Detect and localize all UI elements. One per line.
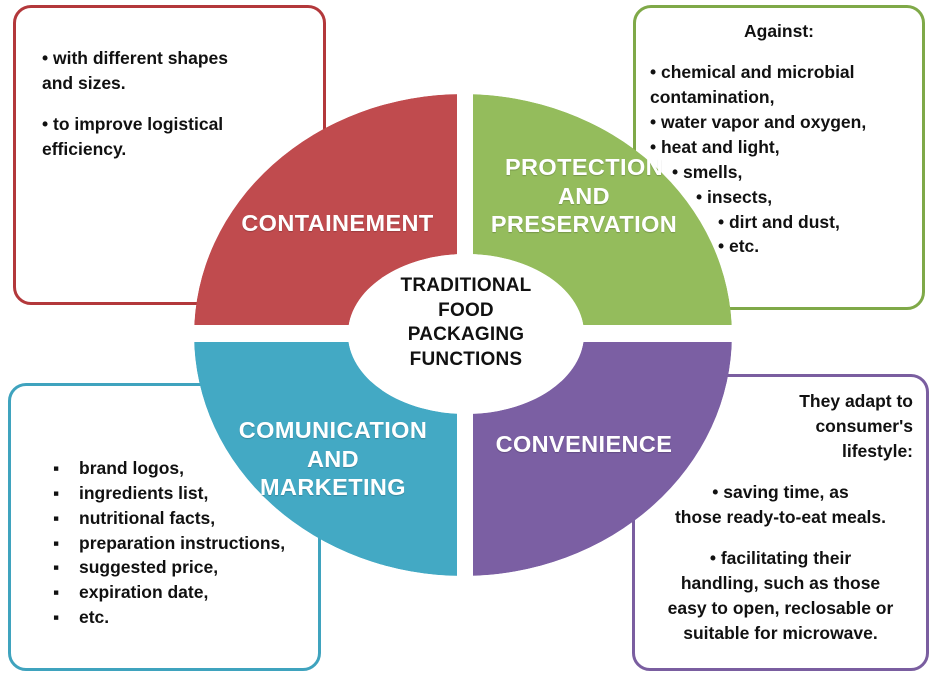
containment-item-0: • with different shapes — [42, 46, 297, 71]
convenience-group-two-0: • facilitating their — [648, 546, 913, 571]
communication-item-label: preparation instructions, — [79, 533, 285, 553]
segment-label-line: PRESERVATION — [470, 210, 698, 239]
diagram-canvas: • with different shapes and sizes. • to … — [0, 0, 937, 682]
segment-label-containment[interactable]: CONTAINEMENT — [205, 209, 470, 238]
protection-item-0: • chemical and microbial — [650, 60, 908, 85]
square-bullet-icon: ▪ — [53, 605, 79, 630]
communication-item-label: expiration date, — [79, 582, 208, 602]
list-item: ▪expiration date, — [53, 580, 318, 605]
segment-label-communication[interactable]: COMUNICATION AND MARKETING — [200, 416, 466, 502]
convenience-group-one-1: those ready-to-eat meals. — [648, 505, 913, 530]
containment-item-3: efficiency. — [42, 137, 297, 162]
communication-item-label: etc. — [79, 607, 109, 627]
convenience-group-one-0: • saving time, as — [648, 480, 913, 505]
containment-spacer — [42, 96, 297, 113]
communication-item-label: suggested price, — [79, 557, 218, 577]
containment-item-2: • to improve logistical — [42, 112, 297, 137]
square-bullet-icon: ▪ — [53, 555, 79, 580]
convenience-group-two-2: easy to open, reclosable or — [648, 596, 913, 621]
segment-label-line: CONVENIENCE — [496, 431, 673, 457]
segment-label-protection[interactable]: PROTECTION AND PRESERVATION — [470, 153, 698, 239]
list-item: ▪suggested price, — [53, 555, 318, 580]
convenience-group-two-3: suitable for microwave. — [648, 621, 913, 646]
hub-title: TRADITIONAL FOOD PACKAGING FUNCTIONS — [355, 274, 577, 373]
hub-title-line: FUNCTIONS — [355, 348, 577, 373]
square-bullet-icon: ▪ — [53, 481, 79, 506]
segment-label-line: PROTECTION — [470, 153, 698, 182]
segment-label-line: MARKETING — [200, 473, 466, 502]
protection-spacer — [650, 44, 908, 61]
convenience-spacer-2 — [648, 530, 913, 547]
communication-item-label: nutritional facts, — [79, 508, 215, 528]
square-bullet-icon: ▪ — [53, 456, 79, 481]
protection-heading: Against: — [650, 19, 908, 44]
square-bullet-icon: ▪ — [53, 580, 79, 605]
list-item: ▪etc. — [53, 605, 318, 630]
hub-title-line: PACKAGING — [355, 323, 577, 348]
segment-label-line: AND — [470, 182, 698, 211]
square-bullet-icon: ▪ — [53, 506, 79, 531]
segment-label-line: COMUNICATION — [200, 416, 466, 445]
hub-title-line: FOOD — [355, 299, 577, 324]
convenience-group-two-1: handling, such as those — [648, 571, 913, 596]
containment-item-1: and sizes. — [42, 71, 297, 96]
square-bullet-icon: ▪ — [53, 531, 79, 556]
segment-label-line: AND — [200, 445, 466, 474]
protection-item-1: contamination, — [650, 85, 908, 110]
communication-item-label: ingredients list, — [79, 483, 208, 503]
communication-item-label: brand logos, — [79, 458, 184, 478]
list-item: ▪preparation instructions, — [53, 531, 318, 556]
segment-label-line: CONTAINEMENT — [241, 210, 433, 236]
hub-title-line: TRADITIONAL — [355, 274, 577, 299]
segment-label-convenience[interactable]: CONVENIENCE — [470, 430, 698, 459]
protection-item-2: • water vapor and oxygen, — [650, 110, 908, 135]
